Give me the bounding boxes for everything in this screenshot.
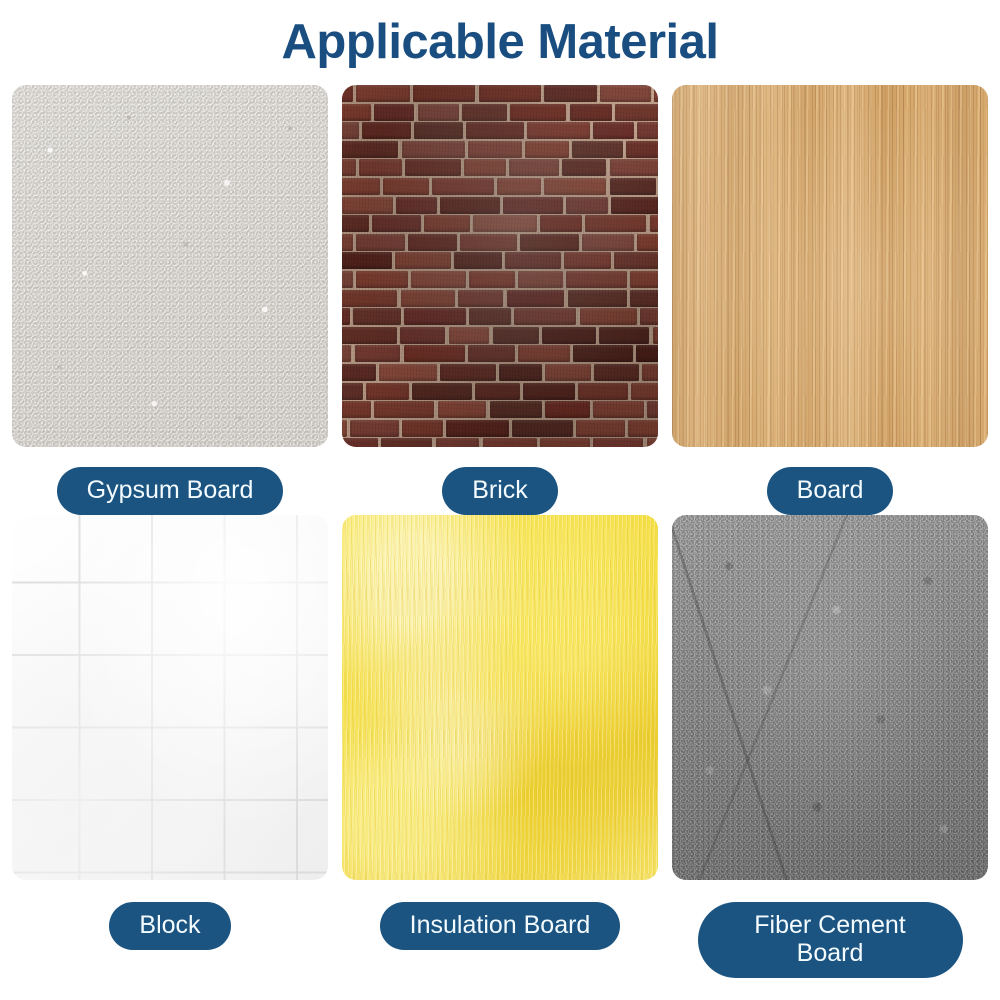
applicable-material-infographic: Applicable Material Gypsum Board Brick B… bbox=[0, 0, 1000, 1000]
material-label-brick[interactable]: Brick bbox=[442, 467, 558, 515]
brick-shading-overlay bbox=[342, 85, 658, 447]
wood-sheen-overlay bbox=[672, 85, 988, 447]
material-image-brick bbox=[342, 85, 658, 447]
block-gloss-overlay bbox=[12, 515, 328, 880]
page-title: Applicable Material bbox=[0, 14, 1000, 70]
material-card-fiber-cement-board[interactable]: Fiber Cement Board bbox=[672, 515, 988, 978]
material-label-block[interactable]: Block bbox=[109, 902, 230, 950]
material-image-fiber-cement-board bbox=[672, 515, 988, 880]
material-image-gypsum-board bbox=[12, 85, 328, 447]
material-card-insulation-board[interactable]: Insulation Board bbox=[338, 515, 662, 978]
material-label-board[interactable]: Board bbox=[767, 467, 894, 515]
material-card-block[interactable]: Block bbox=[12, 515, 328, 978]
material-card-board[interactable]: Board bbox=[672, 85, 988, 515]
material-image-block bbox=[12, 515, 328, 880]
texture-gypsum bbox=[12, 85, 328, 447]
material-label-insulation-board[interactable]: Insulation Board bbox=[380, 902, 621, 950]
material-label-fiber-cement-board[interactable]: Fiber Cement Board bbox=[698, 902, 963, 978]
material-card-brick[interactable]: Brick bbox=[338, 85, 662, 515]
fiber-cement-crack-overlay bbox=[672, 515, 988, 880]
material-image-board bbox=[672, 85, 988, 447]
material-label-gypsum-board[interactable]: Gypsum Board bbox=[57, 467, 284, 515]
material-image-insulation-board bbox=[342, 515, 658, 880]
material-card-gypsum-board[interactable]: Gypsum Board bbox=[12, 85, 328, 515]
material-grid: Gypsum Board Brick Board Block In bbox=[12, 85, 988, 978]
